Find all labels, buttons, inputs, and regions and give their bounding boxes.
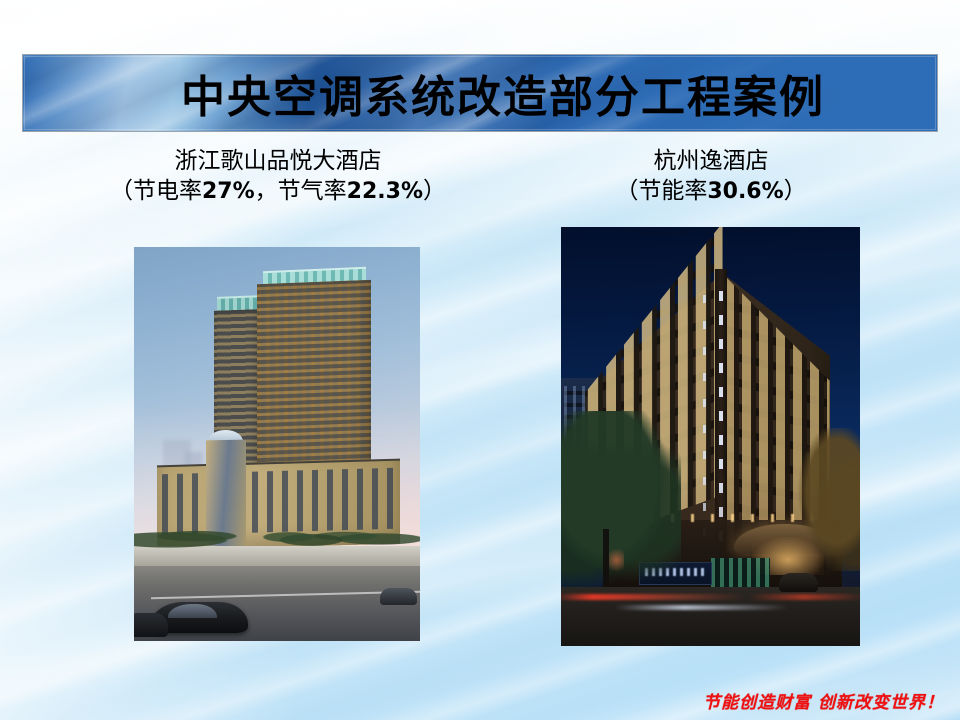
photo-left-car-far	[380, 588, 417, 605]
photo-left-street-trees	[134, 507, 420, 554]
case-right-metric-value-1: 30.6%	[707, 179, 783, 204]
photo-left-car-secondary	[134, 613, 168, 637]
case-left-photo	[134, 247, 420, 641]
case-right-metrics: （节能率30.6%）	[566, 177, 856, 206]
photo-right-street-lamp-glow	[609, 545, 624, 574]
photo-right-red-light-trail	[561, 594, 860, 601]
photo-right-hedge	[711, 558, 771, 587]
case-left-metrics: （节电率27%，节气率22.3%）	[104, 177, 452, 206]
case-block-right: 杭州逸酒店 （节能率30.6%）	[566, 148, 856, 206]
presentation-slide: 中央空调系统改造部分工程案例 浙江歌山品悦大酒店 （节电率27%，节气率22.3…	[0, 0, 960, 720]
case-right-photo	[561, 227, 860, 646]
case-left-title: 浙江歌山品悦大酒店	[104, 148, 452, 175]
page-title: 中央空调系统改造部分工程案例	[23, 55, 937, 131]
case-left-metric-value-2: 22.3%	[347, 179, 423, 204]
footer-slogan: 节能创造财富 创新改变世界！	[0, 688, 944, 713]
slide-title-banner: 中央空调系统改造部分工程案例	[22, 54, 938, 132]
case-left-metric-suffix: ）	[423, 178, 446, 204]
photo-right-parked-car	[779, 573, 818, 592]
case-left-metric-value-1: 27%	[202, 179, 255, 204]
case-left-metric-prefix: （节电率	[110, 178, 202, 204]
case-right-metric-prefix: （节能率	[615, 178, 707, 204]
case-block-left: 浙江歌山品悦大酒店 （节电率27%，节气率22.3%）	[104, 148, 452, 206]
case-right-title: 杭州逸酒店	[566, 148, 856, 175]
case-left-metric-middle: ，节气率	[255, 178, 347, 204]
photo-right-white-light-trail	[615, 605, 788, 610]
photo-right-tree-right	[794, 428, 860, 570]
case-right-metric-suffix: ）	[784, 178, 807, 204]
